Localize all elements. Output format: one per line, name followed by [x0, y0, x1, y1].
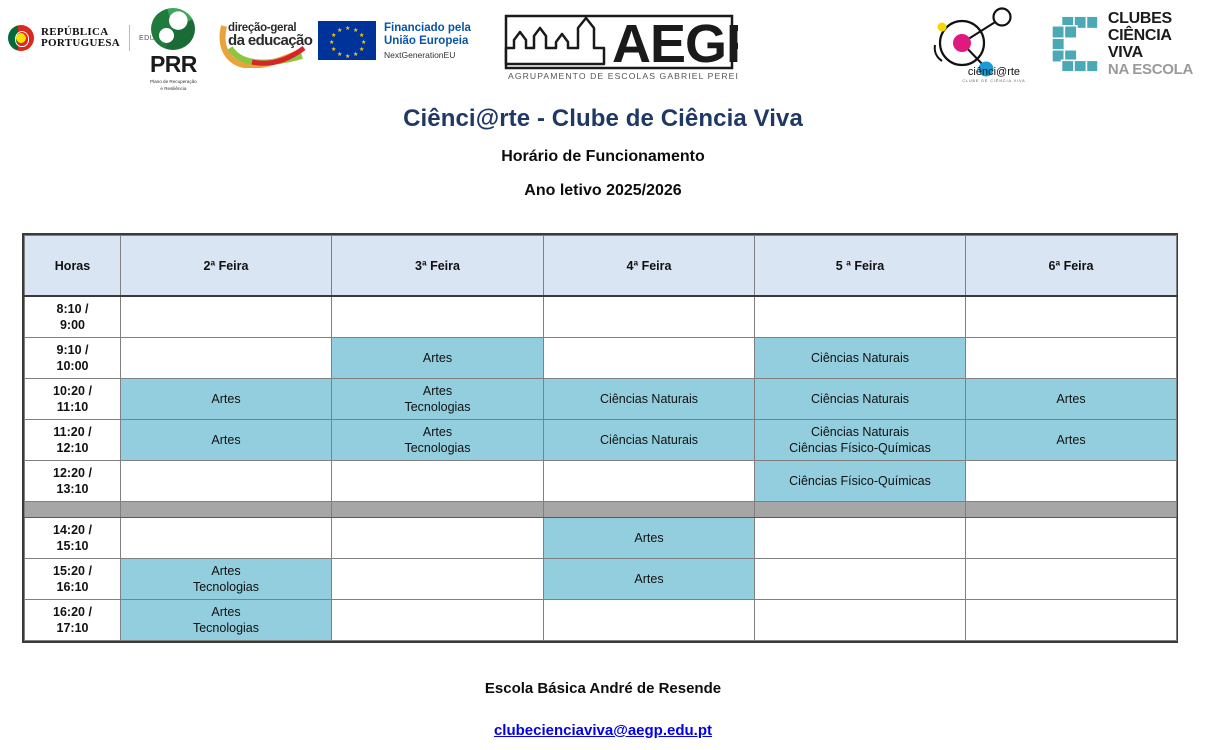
empty-cell [544, 338, 755, 379]
column-header-hours: Horas [25, 236, 121, 297]
activity-label: Artes [332, 383, 543, 399]
empty-cell [544, 296, 755, 338]
eu-text-block: Financiado pela União Europeia NextGener… [384, 22, 471, 60]
column-header-day: 3ª Feira [332, 236, 544, 297]
dge-line2: da educação [228, 32, 312, 49]
column-header-day: 6ª Feira [966, 236, 1177, 297]
empty-cell [332, 518, 544, 559]
clubes-ciencia-viva-logo: CLUBES CIÊNCIA VIVA NA ESCOLA [1050, 10, 1206, 78]
ccv-line3: NA ESCOLA [1108, 61, 1206, 78]
empty-cell [755, 600, 966, 641]
column-header-day: 5 ª Feira [755, 236, 966, 297]
prr-logo: PRR Plano de Recuperação e Resiliência [150, 8, 197, 92]
time-start: 12:20 / [25, 465, 120, 481]
empty-cell [544, 461, 755, 502]
time-slot-cell: 10:20 /11:10 [25, 379, 121, 420]
activity-label: Tecnologias [121, 579, 331, 595]
republica-portuguesa-text: REPÚBLICA PORTUGUESA [41, 27, 120, 50]
time-slot-cell: 14:20 /15:10 [25, 518, 121, 559]
aegp-logo: AEGP AGRUPAMENTO DE ESCOLAS GABRIEL PERE… [500, 6, 738, 84]
prr-mark-icon [151, 8, 195, 50]
activity-label: Artes [966, 391, 1176, 407]
time-end: 9:00 [25, 317, 120, 333]
table-row: 10:20 /11:10ArtesArtesTecnologiasCiência… [25, 379, 1177, 420]
time-slot-cell: 15:20 /16:10 [25, 559, 121, 600]
cienciarte-logo: ciênci@rte CLUBE DE CIÊNCIA VIVA [928, 5, 1040, 85]
schedule-table-wrapper: Horas2ª Feira3ª Feira4ª Feira5 ª Feira6ª… [22, 233, 1178, 643]
activity-label: Ciências Naturais [544, 391, 754, 407]
time-end: 13:10 [25, 481, 120, 497]
activity-label: Ciências Naturais [755, 424, 965, 440]
activity-label: Artes [544, 571, 754, 587]
time-start: 8:10 / [25, 301, 120, 317]
activity-cell: Ciências Naturais [544, 379, 755, 420]
lunch-break-row [25, 502, 1177, 518]
eu-flag-icon: ★ ★ ★ ★ ★ ★ ★ ★ ★ ★ ★ ★ [318, 21, 376, 60]
activity-label: Tecnologias [332, 399, 543, 415]
table-row: 9:10 /10:00ArtesCiências Naturais [25, 338, 1177, 379]
page-subtitle-2: Ano letivo 2025/2026 [0, 182, 1206, 200]
rp-line2: PORTUGUESA [41, 38, 120, 50]
schedule-table: Horas2ª Feira3ª Feira4ª Feira5 ª Feira6ª… [24, 235, 1177, 641]
table-row: 14:20 /15:10Artes [25, 518, 1177, 559]
activity-cell: ArtesTecnologias [332, 420, 544, 461]
activity-cell: Artes [121, 420, 332, 461]
empty-cell [121, 461, 332, 502]
svg-text:AEGP: AEGP [612, 14, 738, 74]
activity-label: Ciências Naturais [755, 350, 965, 366]
empty-cell [755, 518, 966, 559]
empty-cell [332, 559, 544, 600]
uniao-europeia-logo: ★ ★ ★ ★ ★ ★ ★ ★ ★ ★ ★ ★ Financiado pela … [318, 21, 471, 60]
prr-word: PRR [150, 51, 197, 78]
empty-cell [755, 296, 966, 338]
activity-cell: Ciências Naturais [755, 379, 966, 420]
empty-cell [121, 338, 332, 379]
activity-cell: ArtesTecnologias [332, 379, 544, 420]
school-name: Escola Básica André de Resende [0, 680, 1206, 697]
activity-label: Artes [332, 424, 543, 440]
email-link[interactable]: clubecienciaviva@aegp.edu.pt [494, 722, 712, 739]
portugal-flag-icon [8, 25, 34, 51]
activity-label: Artes [121, 604, 331, 620]
time-end: 12:10 [25, 440, 120, 456]
time-start: 10:20 / [25, 383, 120, 399]
time-start: 11:20 / [25, 424, 120, 440]
direcao-geral-educacao-logo: direção-geral da educação [228, 22, 312, 49]
activity-label: Artes [332, 350, 543, 366]
activity-label: Artes [966, 432, 1176, 448]
activity-cell: Artes [544, 518, 755, 559]
table-row: 12:20 /13:10Ciências Físico-Químicas [25, 461, 1177, 502]
activity-cell: Ciências Naturais [544, 420, 755, 461]
empty-cell [966, 600, 1177, 641]
ccv-text-block: CLUBES CIÊNCIA VIVA NA ESCOLA [1108, 10, 1206, 78]
empty-cell [544, 600, 755, 641]
activity-label: Ciências Físico-Químicas [755, 440, 965, 456]
aegp-skyline-icon: AEGP AGRUPAMENTO DE ESCOLAS GABRIEL PERE… [500, 6, 738, 84]
contact-email[interactable]: clubecienciaviva@aegp.edu.pt [0, 722, 1206, 739]
page-title: Ciênci@rte - Clube de Ciência Viva [0, 105, 1206, 133]
time-end: 16:10 [25, 579, 120, 595]
activity-label: Artes [121, 391, 331, 407]
time-end: 15:10 [25, 538, 120, 554]
table-header-row: Horas2ª Feira3ª Feira4ª Feira5 ª Feira6ª… [25, 236, 1177, 297]
logo-divider [129, 25, 130, 51]
empty-cell [966, 461, 1177, 502]
ccv-line1: CLUBES [1108, 10, 1206, 27]
time-start: 16:20 / [25, 604, 120, 620]
svg-text:CLUBE DE CIÊNCIA VIVA: CLUBE DE CIÊNCIA VIVA [962, 78, 1025, 83]
table-row: 16:20 /17:10ArtesTecnologias [25, 600, 1177, 641]
empty-cell [966, 559, 1177, 600]
break-cell [332, 502, 544, 518]
ccv-line2: CIÊNCIA VIVA [1108, 27, 1206, 61]
cienciarte-atom-icon: ciênci@rte CLUBE DE CIÊNCIA VIVA [928, 5, 1040, 85]
ccv-block-c-icon [1050, 13, 1100, 75]
time-end: 11:10 [25, 399, 120, 415]
cienciarte-word: ciênci@rte [968, 66, 1020, 78]
activity-cell: Ciências Físico-Químicas [755, 461, 966, 502]
logo-bar: REPÚBLICA PORTUGUESA EDUCAÇÃO PRR Plano … [0, 0, 1206, 92]
activity-cell: Ciências Naturais [755, 338, 966, 379]
activity-label: Ciências Físico-Químicas [755, 473, 965, 489]
prr-sub2: e Resiliência [160, 86, 186, 92]
time-start: 14:20 / [25, 522, 120, 538]
activity-cell: Artes [121, 379, 332, 420]
time-slot-cell: 12:20 /13:10 [25, 461, 121, 502]
prr-sub1: Plano de Recuperação [150, 79, 197, 85]
table-row: 11:20 /12:10ArtesArtesTecnologiasCiência… [25, 420, 1177, 461]
activity-label: Artes [121, 563, 331, 579]
empty-cell [121, 296, 332, 338]
time-start: 9:10 / [25, 342, 120, 358]
activity-cell: Artes [544, 559, 755, 600]
table-row: 8:10 /9:00 [25, 296, 1177, 338]
time-slot-cell: 16:20 /17:10 [25, 600, 121, 641]
time-slot-cell: 9:10 /10:00 [25, 338, 121, 379]
eu-line2: União Europeia [384, 35, 471, 48]
empty-cell [966, 518, 1177, 559]
activity-label: Ciências Naturais [544, 432, 754, 448]
empty-cell [966, 296, 1177, 338]
break-cell [966, 502, 1177, 518]
activity-cell: Ciências NaturaisCiências Físico-Química… [755, 420, 966, 461]
time-start: 15:20 / [25, 563, 120, 579]
activity-cell: ArtesTecnologias [121, 600, 332, 641]
page-subtitle-1: Horário de Funcionamento [0, 148, 1206, 166]
empty-cell [332, 296, 544, 338]
activity-label: Ciências Naturais [755, 391, 965, 407]
empty-cell [332, 461, 544, 502]
aegp-subtitle: AGRUPAMENTO DE ESCOLAS GABRIEL PEREIRA -… [508, 71, 738, 81]
activity-cell: Artes [966, 420, 1177, 461]
eu-line1: Financiado pela [384, 22, 471, 35]
empty-cell [121, 518, 332, 559]
empty-cell [755, 559, 966, 600]
activity-cell: Artes [332, 338, 544, 379]
break-cell [121, 502, 332, 518]
activity-label: Artes [121, 432, 331, 448]
column-header-day: 2ª Feira [121, 236, 332, 297]
column-header-day: 4ª Feira [544, 236, 755, 297]
break-cell [544, 502, 755, 518]
time-slot-cell: 11:20 /12:10 [25, 420, 121, 461]
break-cell [25, 502, 121, 518]
activity-cell: Artes [966, 379, 1177, 420]
table-row: 15:20 /16:10ArtesTecnologiasArtes [25, 559, 1177, 600]
activity-label: Tecnologias [121, 620, 331, 636]
empty-cell [332, 600, 544, 641]
eu-line3: NextGenerationEU [384, 50, 471, 60]
activity-label: Tecnologias [332, 440, 543, 456]
time-slot-cell: 8:10 /9:00 [25, 296, 121, 338]
time-end: 17:10 [25, 620, 120, 636]
activity-label: Artes [544, 530, 754, 546]
break-cell [755, 502, 966, 518]
empty-cell [966, 338, 1177, 379]
activity-cell: ArtesTecnologias [121, 559, 332, 600]
time-end: 10:00 [25, 358, 120, 374]
